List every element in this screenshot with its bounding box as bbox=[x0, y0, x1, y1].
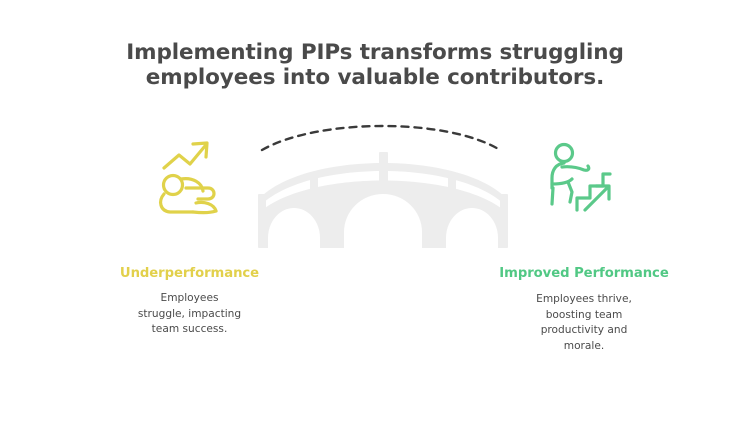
improved-performance-heading: Improved Performance bbox=[494, 264, 674, 283]
person-climbing-stairs-with-arrow-icon bbox=[538, 136, 624, 222]
improved-performance-body: Employees thrive, boosting team producti… bbox=[494, 292, 674, 354]
heading-line-1: Improved bbox=[499, 266, 569, 281]
body-line: productivity and bbox=[494, 323, 674, 339]
body-line: morale. bbox=[494, 339, 674, 355]
dashed-arc bbox=[262, 126, 500, 150]
body-line: team success. bbox=[92, 322, 287, 338]
underperformance-body: Employees struggle, impacting team succe… bbox=[92, 291, 287, 338]
body-line: Employees bbox=[92, 291, 287, 307]
title-line-1: Implementing PIPs transforms struggling bbox=[115, 40, 635, 65]
heading-line-2: Performance bbox=[574, 266, 669, 281]
slumped-person-with-rising-arrow-icon bbox=[146, 133, 234, 219]
body-line: boosting team bbox=[494, 308, 674, 324]
slide-canvas: Implementing PIPs transforms struggling … bbox=[0, 0, 750, 422]
body-line: Employees thrive, bbox=[494, 292, 674, 308]
underperformance-block: Underperformance Employees struggle, imp… bbox=[92, 264, 287, 338]
title-line-2: employees into valuable contributors. bbox=[115, 65, 635, 90]
body-line: struggle, impacting bbox=[92, 307, 287, 323]
slide-title: Implementing PIPs transforms struggling … bbox=[115, 40, 635, 90]
underperformance-heading: Underperformance bbox=[92, 264, 287, 283]
bridge-illustration bbox=[248, 112, 518, 254]
improved-performance-block: Improved Performance Employees thrive, b… bbox=[494, 264, 674, 354]
